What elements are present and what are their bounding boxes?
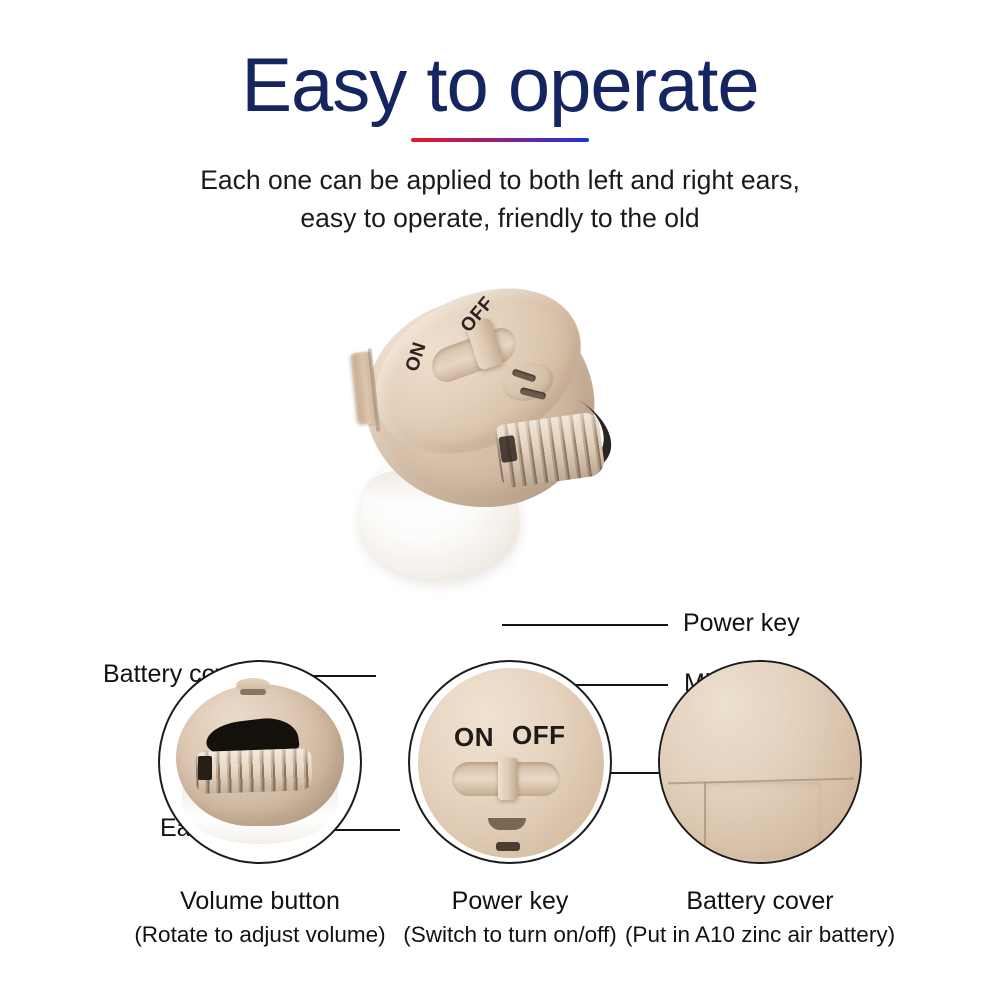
subtitle-line-1: Each one can be applied to both left and… bbox=[200, 165, 800, 195]
detail-volume-wheel-gloss bbox=[195, 748, 312, 794]
page-title: Easy to operate bbox=[0, 0, 1000, 124]
callout-leader-power-key bbox=[502, 624, 668, 626]
volume-wheel-notch bbox=[498, 435, 517, 463]
detail-microphone-slot bbox=[496, 842, 520, 851]
detail-circle-volume-button bbox=[158, 660, 362, 864]
detail-battery-seam-vertical bbox=[704, 782, 706, 856]
detail-gallery: Volume button (Rotate to adjust volume) … bbox=[0, 660, 1000, 1000]
detail-switch-off-label: OFF bbox=[512, 720, 566, 751]
detail-item-battery-cover: Battery cover (Put in A10 zinc air batte… bbox=[610, 660, 910, 949]
hearing-aid-device: ON OFF bbox=[352, 290, 622, 590]
product-diagram: ON OFF Battery cover Earplug Power key M… bbox=[0, 280, 1000, 620]
page-subtitle: Each one can be applied to both left and… bbox=[0, 142, 1000, 237]
detail-switch-knob bbox=[498, 758, 518, 800]
detail-battery-cover-panel bbox=[704, 782, 822, 858]
detail-circle-power-key: ON OFF bbox=[408, 660, 612, 864]
title-divider bbox=[411, 138, 589, 142]
detail-subtitle-battery-cover: (Put in A10 zinc air battery) bbox=[610, 921, 910, 949]
detail-top-slot bbox=[240, 689, 266, 695]
detail-volume-wheel-end bbox=[198, 756, 212, 780]
callout-label-power-key: Power key bbox=[683, 611, 800, 636]
detail-volume-wheel bbox=[195, 748, 312, 794]
subtitle-line-2: easy to operate, friendly to the old bbox=[300, 203, 699, 233]
detail-microphone-groove bbox=[488, 818, 526, 830]
detail-circle-battery-cover bbox=[658, 660, 862, 864]
detail-title-battery-cover: Battery cover bbox=[610, 886, 910, 917]
header: Easy to operate Each one can be applied … bbox=[0, 0, 1000, 237]
detail-switch-on-label: ON bbox=[454, 722, 494, 753]
